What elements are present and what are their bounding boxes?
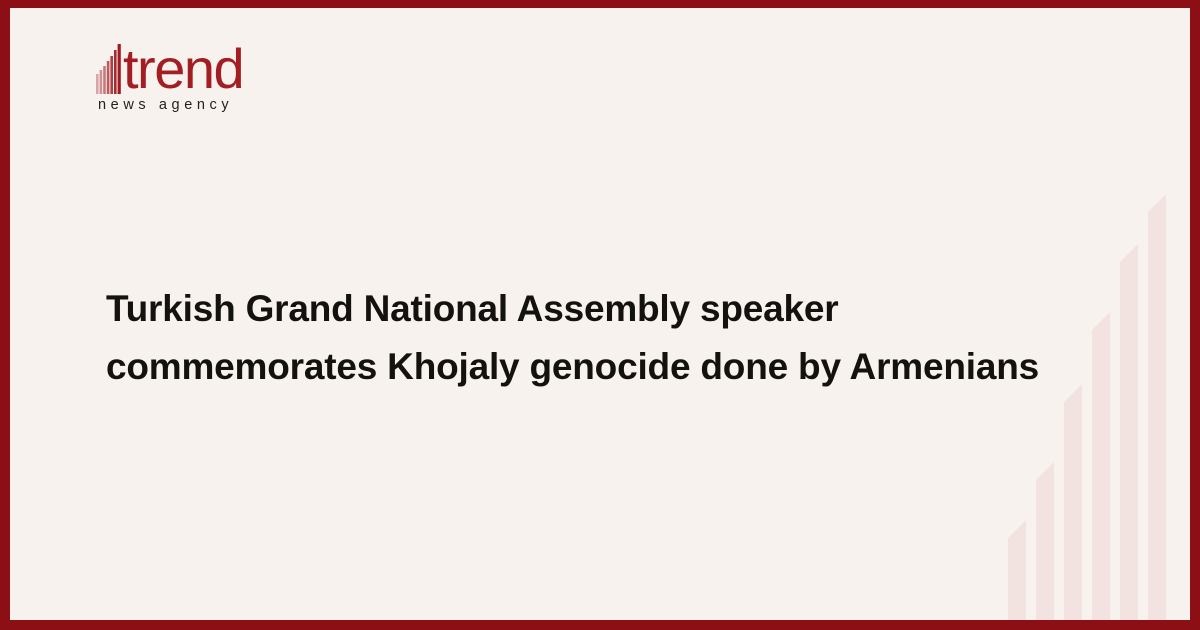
logo-top-row: trend [96,36,286,94]
trend-bars-mark-icon [96,44,122,94]
logo-wordmark: trend [123,44,243,94]
social-share-card: trend news agency Turkish Grand National… [0,0,1200,630]
article-headline: Turkish Grand National Assembly speaker … [106,280,1096,396]
card-canvas: trend news agency Turkish Grand National… [10,8,1190,620]
trend-news-agency-logo: trend news agency [96,36,286,113]
rising-bars-graphic [1000,190,1190,620]
logo-tagline: news agency [98,97,286,113]
